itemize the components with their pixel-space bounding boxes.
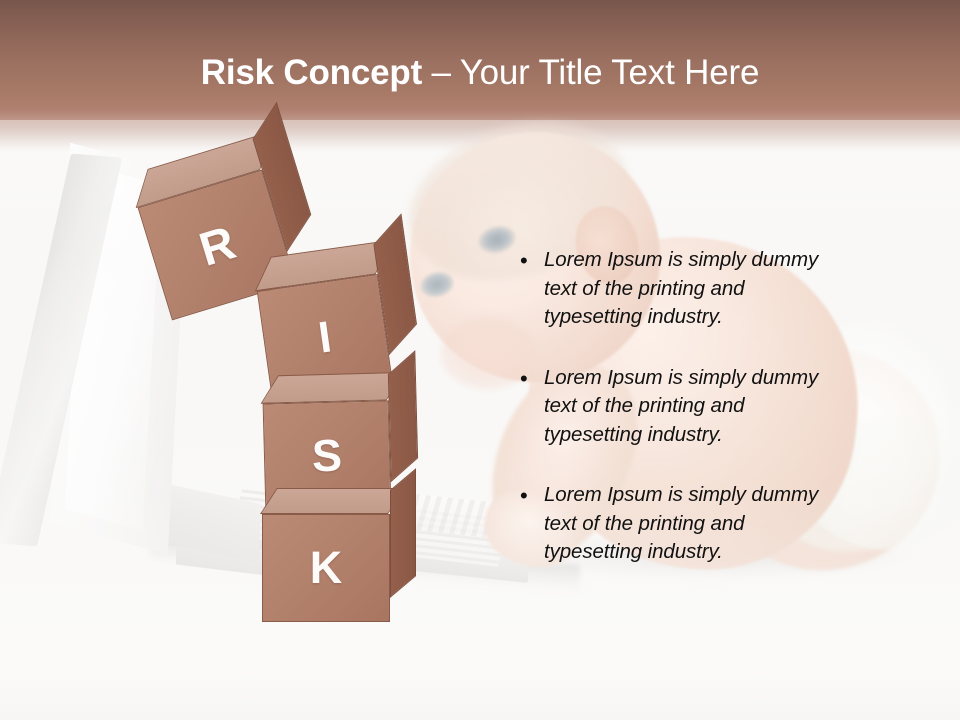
bullet-list: • Lorem Ipsum is simply dummy text of th… [516, 246, 846, 567]
list-item: • Lorem Ipsum is simply dummy text of th… [516, 481, 846, 567]
risk-block-k: K [262, 514, 390, 622]
list-item-text: Lorem Ipsum is simply dummy text of the … [544, 481, 846, 567]
list-item: • Lorem Ipsum is simply dummy text of th… [516, 246, 846, 332]
list-item-text: Lorem Ipsum is simply dummy text of the … [544, 246, 846, 332]
block-side-face [388, 350, 418, 482]
presentation-slide: Risk Concept – Your Title Text Here [0, 0, 960, 720]
block-top-face [261, 372, 404, 404]
block-letter: K [262, 514, 390, 622]
block-top-face [260, 488, 405, 514]
list-item-text: Lorem Ipsum is simply dummy text of the … [544, 364, 846, 450]
block-side-face [390, 468, 416, 598]
list-item: • Lorem Ipsum is simply dummy text of th… [516, 364, 846, 450]
bullet-marker-icon: • [516, 481, 544, 510]
bullet-marker-icon: • [516, 364, 544, 393]
bullet-marker-icon: • [516, 246, 544, 275]
